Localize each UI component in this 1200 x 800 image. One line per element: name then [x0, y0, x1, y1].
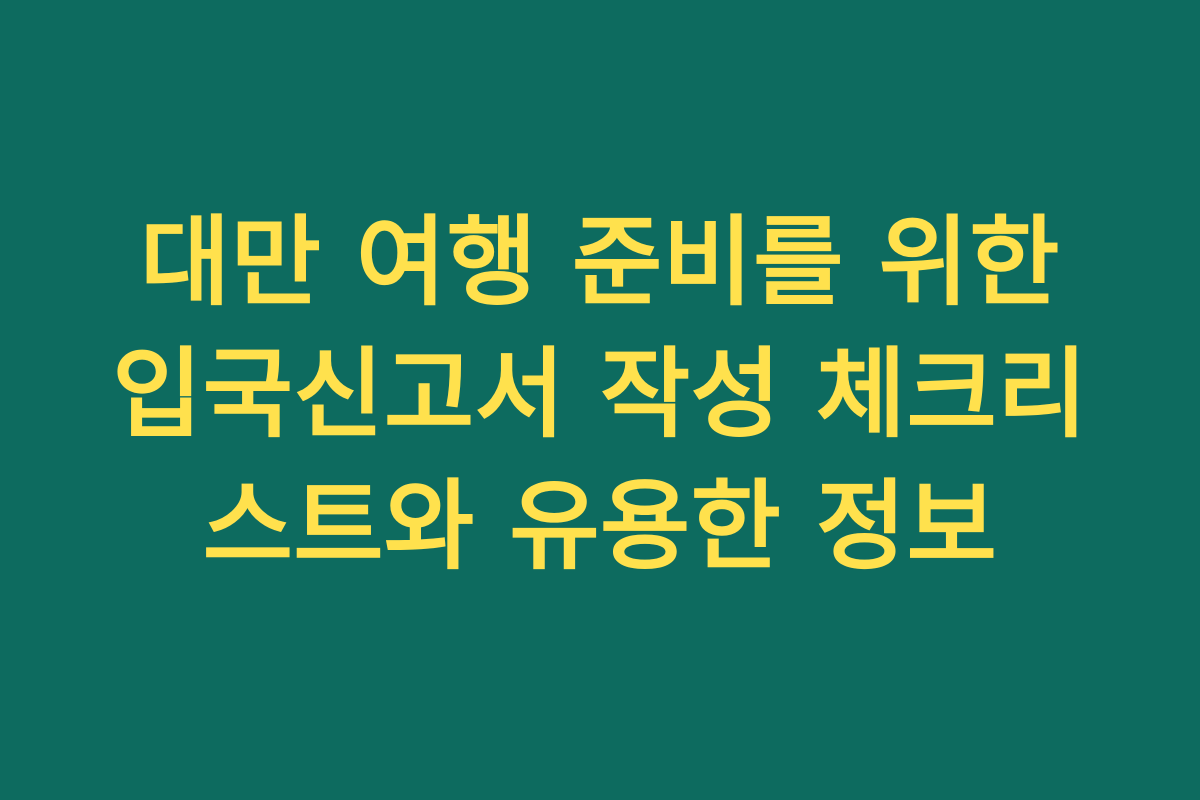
thumbnail-card: 대만 여행 준비를 위한 입국신고서 작성 체크리 스트와 유용한 정보 [0, 0, 1200, 800]
page-title: 대만 여행 준비를 위한 입국신고서 작성 체크리 스트와 유용한 정보 [70, 197, 1130, 593]
title-line-1: 대만 여행 준비를 위한 [140, 197, 1060, 329]
title-line-2: 입국신고서 작성 체크리 [112, 329, 1088, 461]
title-line-3: 스트와 유용한 정보 [203, 461, 998, 593]
